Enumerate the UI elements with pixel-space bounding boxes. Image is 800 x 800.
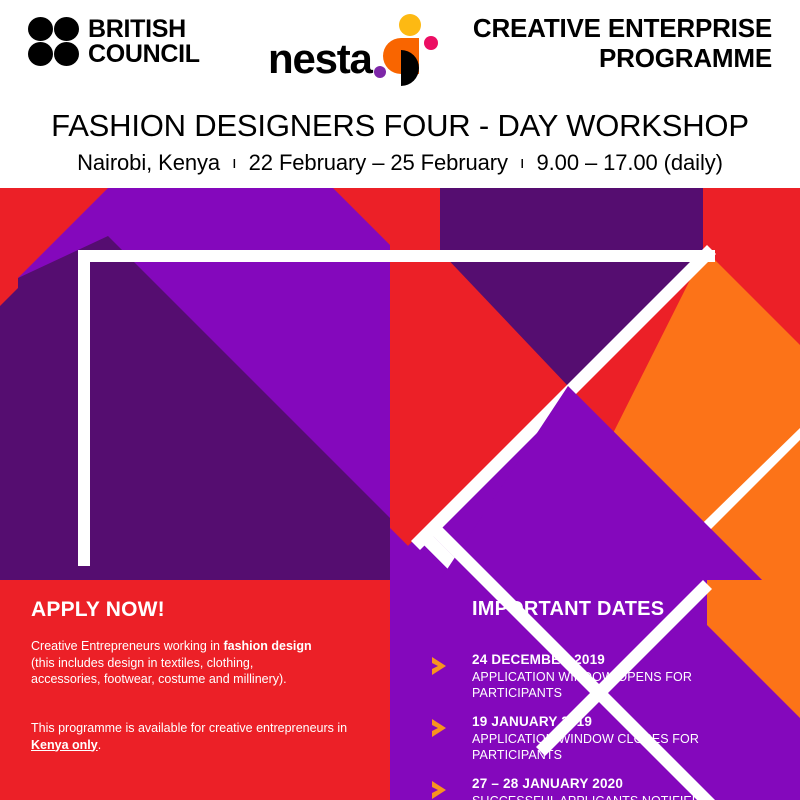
subhead-location: Nairobi, Kenya xyxy=(77,150,220,175)
dot-icon xyxy=(54,17,79,41)
chevron-right-icon xyxy=(430,779,450,800)
chevron-right-icon xyxy=(430,717,450,739)
apply-now-title: APPLY NOW! xyxy=(31,598,371,622)
date-label: 19 JANUARY 2019 xyxy=(472,713,782,731)
apply-body-line2: (this includes design in textiles, cloth… xyxy=(31,656,253,670)
nesta-mark-icon xyxy=(374,14,440,84)
nesta-wordmark: nesta xyxy=(268,38,372,80)
poster-headline: FASHION DESIGNERS FOUR - DAY WORKSHOP xyxy=(0,108,800,144)
subhead-dates: 22 February – 25 February xyxy=(249,150,508,175)
british-council-line2: COUNCIL xyxy=(88,42,200,67)
programme-title: CREATIVE ENTERPRISE PROGRAMME xyxy=(432,13,772,73)
nesta-yellow-circle-icon xyxy=(399,14,421,36)
important-dates-section: IMPORTANT DATES 24 DECEMBER 2019 APPLICA… xyxy=(472,598,782,800)
apply-now-body: Creative Entrepreneurs working in fashio… xyxy=(31,638,371,688)
british-council-logo: BRITISH COUNCIL xyxy=(28,17,200,66)
apply-note-bold: Kenya only xyxy=(31,738,98,752)
apply-now-section: APPLY NOW! Creative Entrepreneurs workin… xyxy=(31,598,371,753)
british-council-line1: BRITISH xyxy=(88,17,200,42)
date-description: SUCCESSFUL APPLICANTS NOTIFIED xyxy=(472,793,782,800)
nesta-logo: nesta xyxy=(268,14,440,80)
logo-row: BRITISH COUNCIL nesta CREATIVE ENTERPRIS… xyxy=(0,0,800,92)
subhead-separator: ı xyxy=(226,153,243,172)
dot-icon xyxy=(54,42,79,66)
date-label: 24 DECEMBER 2019 xyxy=(472,651,782,669)
subhead-times: 9.00 – 17.00 (daily) xyxy=(537,150,723,175)
important-dates-title: IMPORTANT DATES xyxy=(472,598,782,621)
art-left-edge-wedge xyxy=(0,288,18,580)
date-entry: 27 – 28 JANUARY 2020 SUCCESSFUL APPLICAN… xyxy=(472,775,782,800)
date-entry: 19 JANUARY 2019 APPLICATION WINDOW CLOSE… xyxy=(472,713,782,763)
apply-note-post: . xyxy=(98,738,101,752)
poster-header: BRITISH COUNCIL nesta CREATIVE ENTERPRIS… xyxy=(0,0,800,188)
poster: BRITISH COUNCIL nesta CREATIVE ENTERPRIS… xyxy=(0,0,800,800)
apply-body-pre: Creative Entrepreneurs working in xyxy=(31,639,223,653)
chevron-right-icon xyxy=(430,655,450,677)
british-council-wordmark: BRITISH COUNCIL xyxy=(88,17,200,66)
date-description: APPLICATION WINDOW OPENS FOR PARTICIPANT… xyxy=(472,669,782,702)
art-top-dark-purple-band xyxy=(440,188,703,251)
subhead-separator: ı xyxy=(514,153,531,172)
nesta-purple-circle-icon xyxy=(374,66,386,78)
apply-body-bold: fashion design xyxy=(223,639,311,653)
poster-subheadline: Nairobi, Kenya ı 22 February – 25 Februa… xyxy=(0,150,800,176)
date-description: APPLICATION WINDOW CLOSES FOR PARTICIPAN… xyxy=(472,731,782,764)
dot-icon xyxy=(28,42,53,66)
apply-note-pre: This programme is available for creative… xyxy=(31,721,347,735)
apply-now-note: This programme is available for creative… xyxy=(31,720,371,753)
dot-icon xyxy=(28,17,53,41)
date-label: 27 – 28 JANUARY 2020 xyxy=(472,775,782,793)
british-council-dots-icon xyxy=(28,17,79,66)
date-entry: 24 DECEMBER 2019 APPLICATION WINDOW OPEN… xyxy=(472,651,782,701)
apply-body-line3: accessories, footwear, costume and milli… xyxy=(31,672,287,686)
